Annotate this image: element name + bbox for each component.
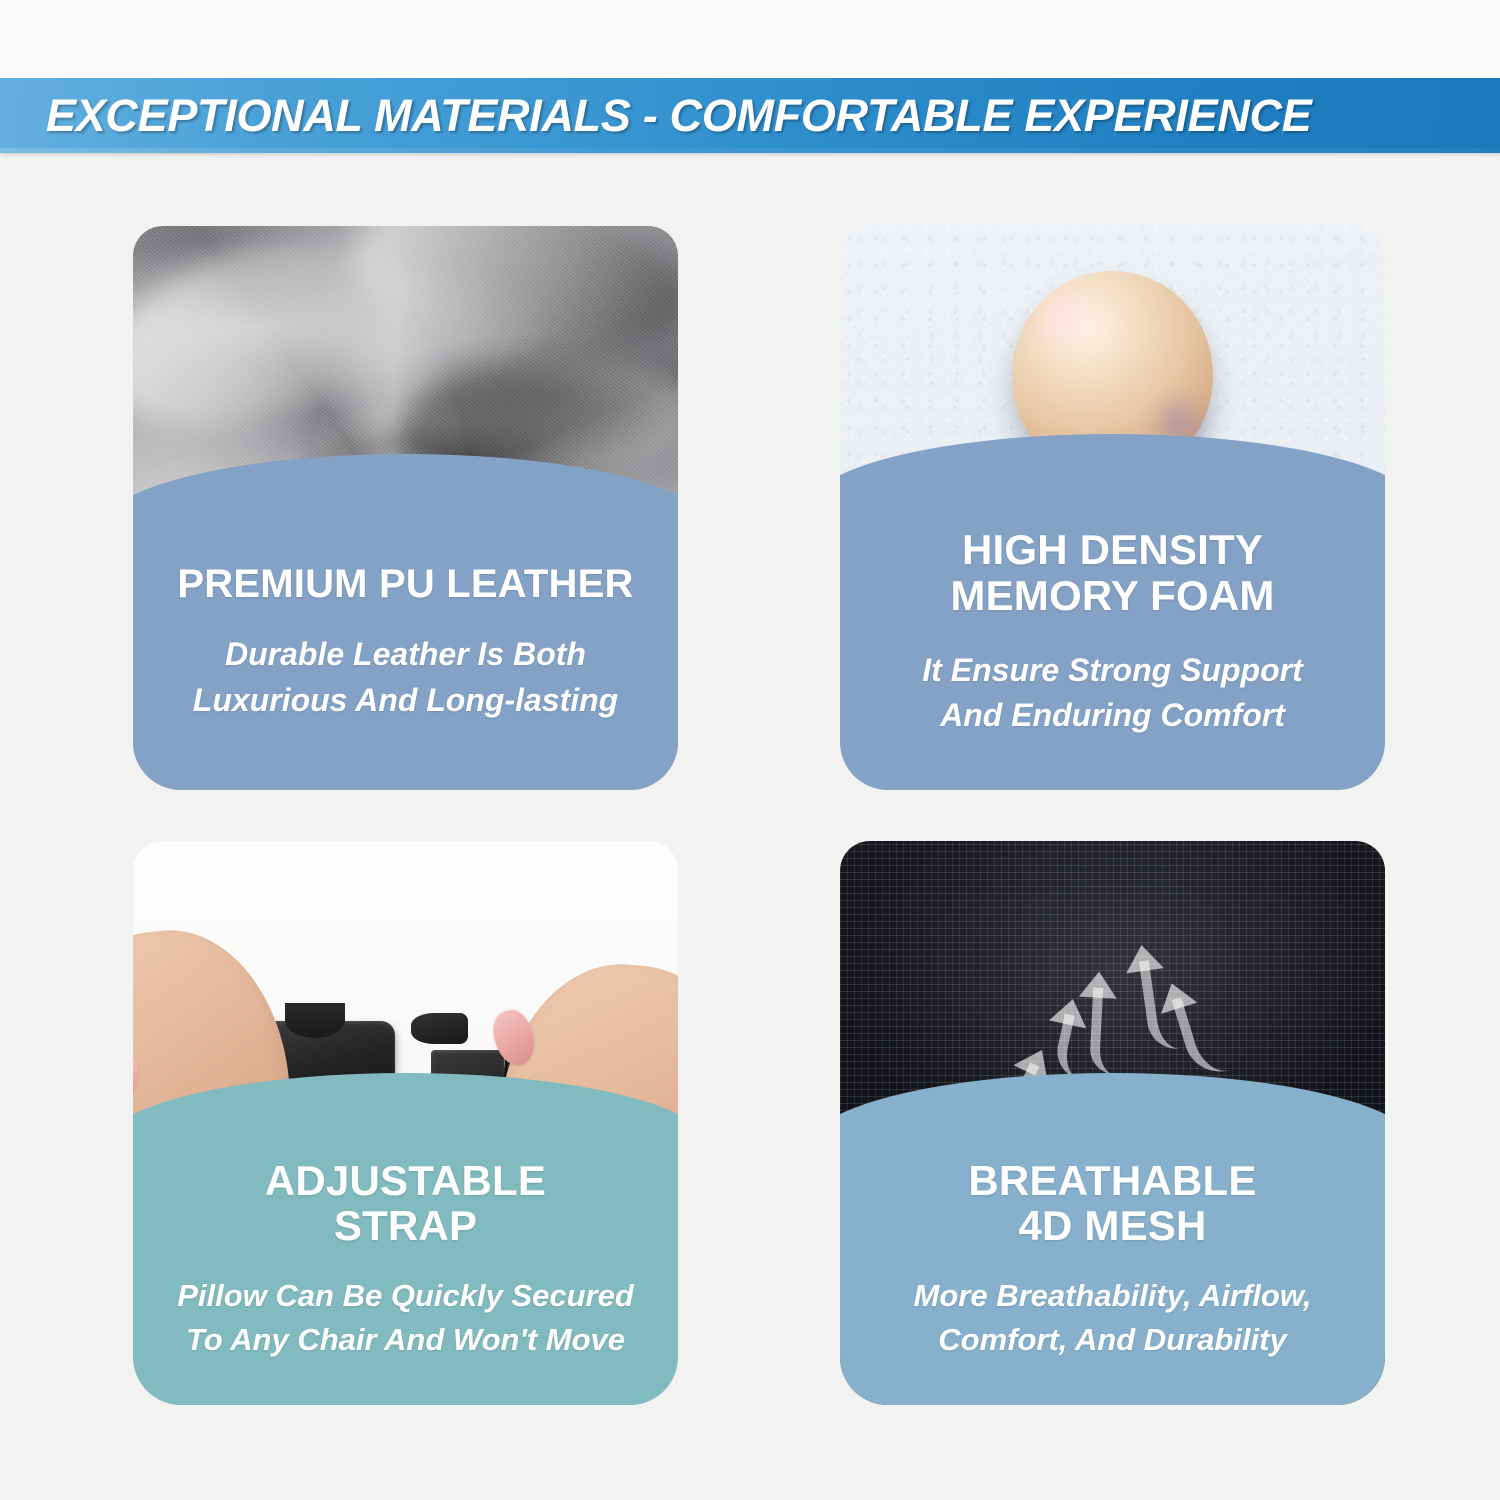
feature-card-adjustable-strap[interactable]: ADJUSTABLE STRAP Pillow Can Be Quickly S… bbox=[133, 841, 678, 1405]
infographic-canvas: EXCEPTIONAL MATERIALS - COMFORTABLE EXPE… bbox=[0, 0, 1500, 1500]
card-title: HIGH DENSITY MEMORY FOAM bbox=[866, 527, 1359, 618]
card-subtitle: Durable Leather Is Both Luxurious And Lo… bbox=[159, 632, 652, 723]
card-title: PREMIUM PU LEATHER bbox=[159, 563, 652, 606]
card-caption-panel: ADJUSTABLE STRAP Pillow Can Be Quickly S… bbox=[133, 1141, 678, 1405]
header-banner: EXCEPTIONAL MATERIALS - COMFORTABLE EXPE… bbox=[0, 78, 1500, 153]
card-caption-panel: BREATHABLE 4D MESH More Breathability, A… bbox=[840, 1141, 1385, 1405]
card-title: ADJUSTABLE STRAP bbox=[159, 1158, 652, 1249]
card-caption-panel: HIGH DENSITY MEMORY FOAM It Ensure Stron… bbox=[840, 502, 1385, 790]
card-caption-panel: PREMIUM PU LEATHER Durable Leather Is Bo… bbox=[133, 522, 678, 790]
top-margin bbox=[0, 0, 1500, 78]
banner-title: EXCEPTIONAL MATERIALS - COMFORTABLE EXPE… bbox=[0, 90, 1311, 142]
feature-card-breathable-4d-mesh[interactable]: BREATHABLE 4D MESH More Breathability, A… bbox=[840, 841, 1385, 1405]
airflow-arrow-icon bbox=[1088, 987, 1118, 1074]
card-subtitle: More Breathability, Airflow, Comfort, An… bbox=[866, 1274, 1359, 1362]
feature-card-high-density-memory-foam[interactable]: HIGH DENSITY MEMORY FOAM It Ensure Stron… bbox=[840, 226, 1385, 790]
card-title: BREATHABLE 4D MESH bbox=[866, 1158, 1359, 1249]
card-subtitle: It Ensure Strong Support And Enduring Co… bbox=[866, 648, 1359, 739]
feature-card-grid: PREMIUM PU LEATHER Durable Leather Is Bo… bbox=[133, 226, 1385, 1406]
feature-card-premium-pu-leather[interactable]: PREMIUM PU LEATHER Durable Leather Is Bo… bbox=[133, 226, 678, 790]
card-subtitle: Pillow Can Be Quickly Secured To Any Cha… bbox=[159, 1274, 652, 1362]
